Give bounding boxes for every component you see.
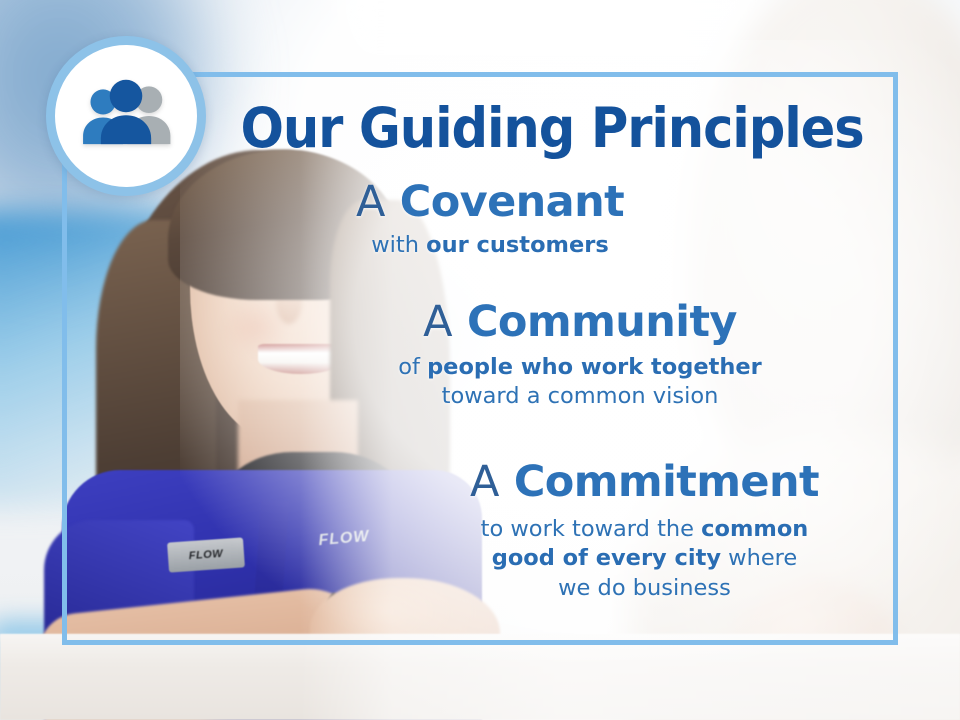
principle-heading: A Covenant	[270, 180, 710, 225]
principle-subtext-line: to work toward the common	[392, 515, 897, 545]
principle-subtext: of people who work togethertoward a comm…	[330, 353, 830, 412]
principle-subtext-line: we do business	[392, 574, 897, 604]
principle-subtext: with our customers	[270, 231, 710, 261]
principle-subtext-line: of people who work together	[330, 353, 830, 383]
principle-keyword: Community	[467, 297, 737, 347]
principle-keyword: Covenant	[400, 177, 624, 227]
principle-article: A	[470, 457, 499, 507]
principle-covenant: A Covenant with our customers	[270, 180, 710, 260]
promo-graphic: FLOW FLOW Our Guidi	[0, 0, 960, 720]
principle-subtext-line: good of every city where	[392, 544, 897, 574]
principle-subtext-line: with our customers	[270, 231, 710, 261]
principle-article: A	[356, 177, 385, 227]
page-title: Our Guiding Principles	[236, 96, 868, 160]
principle-subtext: to work toward the commongood of every c…	[392, 515, 897, 604]
principle-article: A	[423, 297, 452, 347]
principle-heading: A Community	[330, 300, 830, 345]
principle-keyword: Commitment	[514, 457, 819, 507]
principle-commitment: A Commitment to work toward the commongo…	[392, 460, 897, 604]
principle-heading: A Commitment	[392, 460, 897, 505]
principle-subtext-line: toward a common vision	[330, 382, 830, 412]
text-content: Our Guiding Principles A Covenant with o…	[62, 72, 898, 645]
principle-community: A Community of people who work togethert…	[330, 300, 830, 412]
